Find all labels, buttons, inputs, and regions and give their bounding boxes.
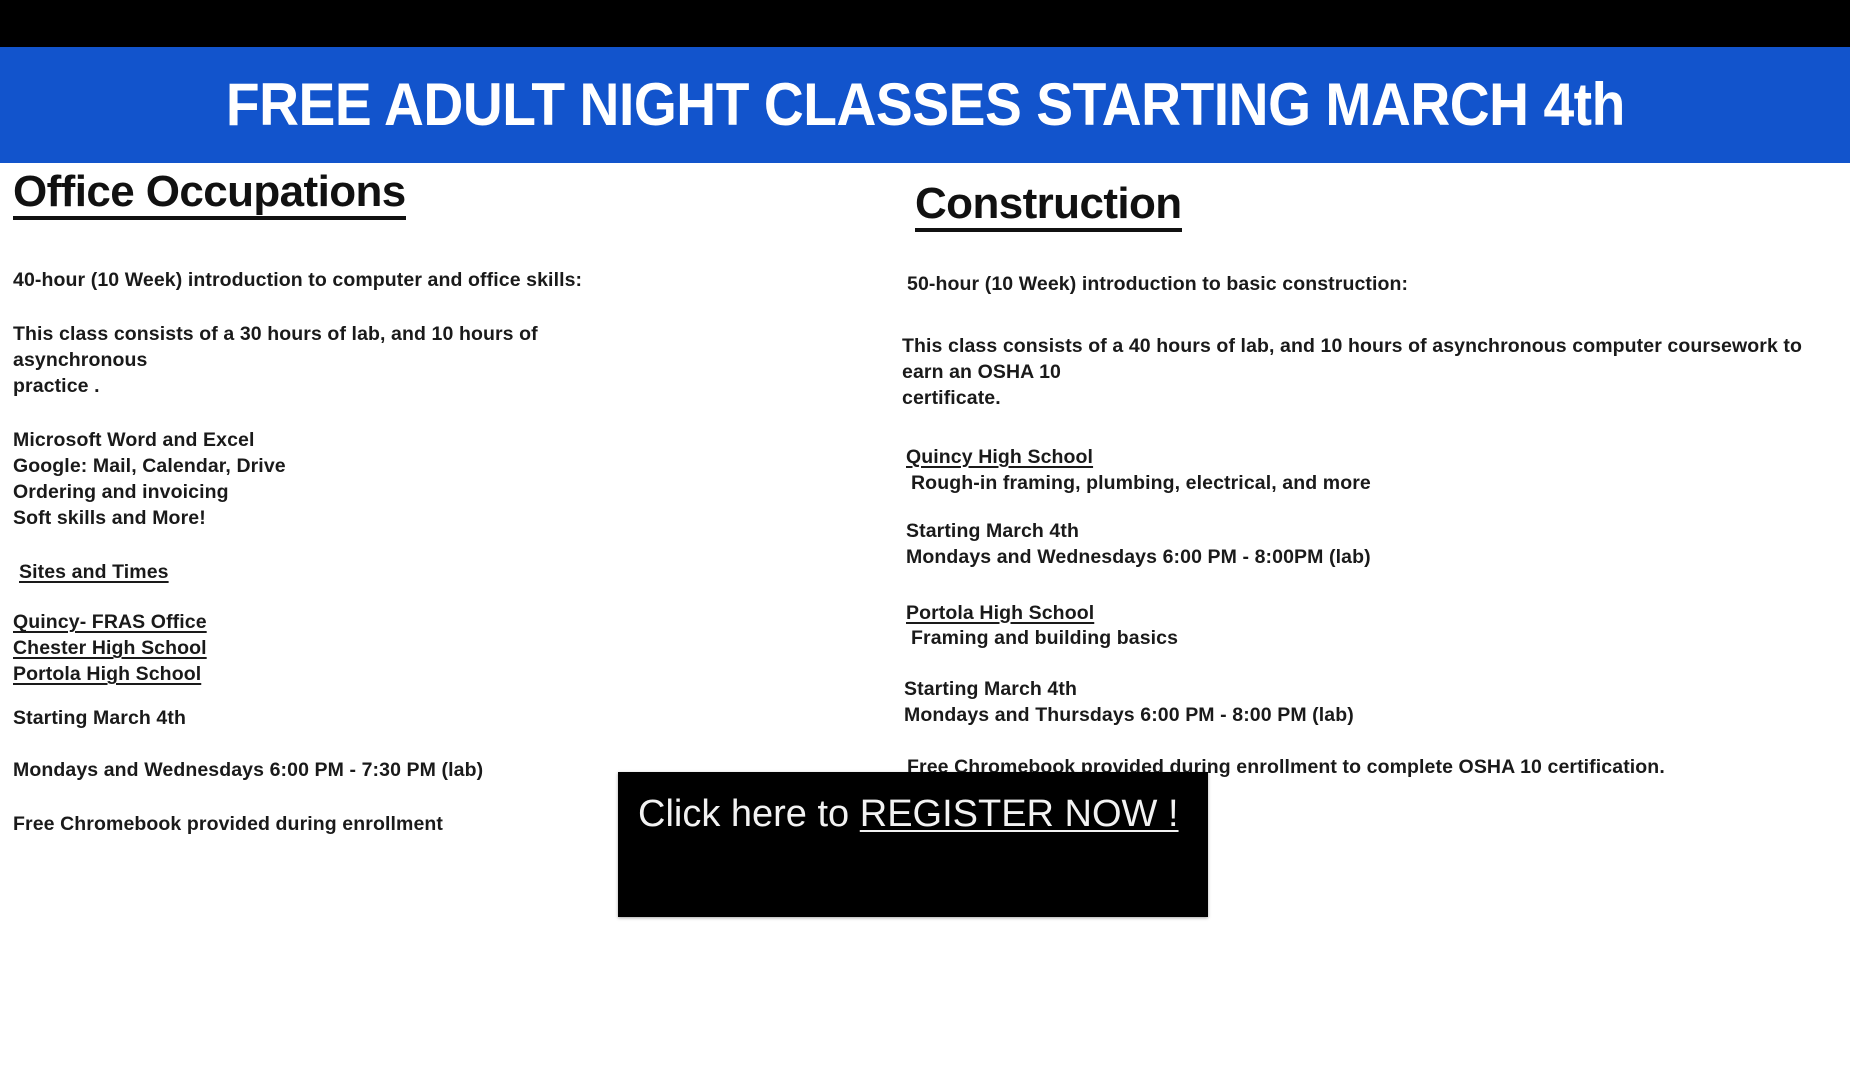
construction-site-days: Mondays and Wednesdays 6:00 PM - 8:00PM …: [906, 545, 1842, 571]
office-consists-line-1: This class consists of a 30 hours of lab…: [13, 322, 653, 374]
construction-intro-text: 50-hour (10 Week) introduction to basic …: [902, 272, 1842, 298]
construction-site-description: Framing and building basics: [906, 626, 1842, 652]
construction-consists-block: This class consists of a 40 hours of lab…: [902, 334, 1822, 412]
office-intro-text: 40-hour (10 Week) introduction to comput…: [13, 268, 653, 294]
construction-site-starting: Starting March 4th: [904, 677, 1842, 703]
construction-site-starting: Starting March 4th: [906, 519, 1842, 545]
office-occupations-column: Office Occupations 40-hour (10 Week) int…: [13, 163, 653, 838]
office-topic-item: Soft skills and More!: [13, 506, 653, 532]
office-sites-and-times-label-wrap: Sites and Times: [13, 560, 653, 586]
top-black-strip: [0, 0, 1850, 47]
construction-site-quincy: Quincy High School Rough-in framing, plu…: [902, 445, 1842, 497]
construction-site-days: Mondays and Thursdays 6:00 PM - 8:00 PM …: [904, 703, 1842, 729]
office-sites-and-times-label: Sites and Times: [19, 561, 169, 583]
office-topics-list: Microsoft Word and Excel Google: Mail, C…: [13, 428, 653, 532]
construction-site-portola: Portola High School Framing and building…: [902, 601, 1842, 653]
register-button-label: Click here to REGISTER NOW !: [638, 793, 1179, 837]
office-site-item: Chester High School: [13, 637, 207, 659]
construction-column: Construction 50-hour (10 Week) introduct…: [902, 163, 1842, 781]
office-days-and-times: Mondays and Wednesdays 6:00 PM - 7:30 PM…: [13, 758, 653, 784]
office-chromebook-note: Free Chromebook provided during enrollme…: [13, 812, 653, 838]
flyer-canvas: FREE ADULT NIGHT CLASSES STARTING MARCH …: [0, 0, 1850, 1075]
banner-title: FREE ADULT NIGHT CLASSES STARTING MARCH …: [225, 75, 1624, 135]
construction-site-portola-schedule: Starting March 4th Mondays and Thursdays…: [902, 677, 1842, 729]
office-topic-item: Microsoft Word and Excel: [13, 428, 653, 454]
office-topic-item: Ordering and invoicing: [13, 480, 653, 506]
office-occupations-heading: Office Occupations: [13, 169, 406, 220]
office-consists-line-2: practice .: [13, 374, 653, 400]
flyer-body: Office Occupations 40-hour (10 Week) int…: [0, 163, 1850, 1075]
construction-consists-line-1: This class consists of a 40 hours of lab…: [902, 334, 1822, 386]
construction-heading: Construction: [915, 181, 1182, 232]
register-button-emphasis: REGISTER NOW !: [860, 793, 1179, 835]
office-consists-block: This class consists of a 30 hours of lab…: [13, 322, 653, 400]
office-starting-date: Starting March 4th: [13, 706, 653, 732]
construction-consists-line-2: certificate.: [902, 386, 1822, 412]
construction-heading-wrap: Construction: [915, 181, 1842, 232]
office-site-item: Portola High School: [13, 663, 201, 685]
office-occupations-heading-wrap: Office Occupations: [13, 169, 653, 220]
office-site-item: Quincy- FRAS Office: [13, 611, 207, 633]
construction-site-name: Quincy High School: [906, 446, 1093, 468]
register-button-prefix: Click here to: [638, 793, 860, 835]
office-sites-list: Quincy- FRAS Office Chester High School …: [13, 610, 653, 688]
headline-banner: FREE ADULT NIGHT CLASSES STARTING MARCH …: [0, 47, 1850, 163]
register-now-button[interactable]: Click here to REGISTER NOW !: [618, 772, 1208, 917]
office-topic-item: Google: Mail, Calendar, Drive: [13, 454, 653, 480]
construction-site-quincy-schedule: Starting March 4th Mondays and Wednesday…: [902, 519, 1842, 571]
construction-site-name: Portola High School: [906, 602, 1094, 624]
construction-site-description: Rough-in framing, plumbing, electrical, …: [906, 471, 1842, 497]
